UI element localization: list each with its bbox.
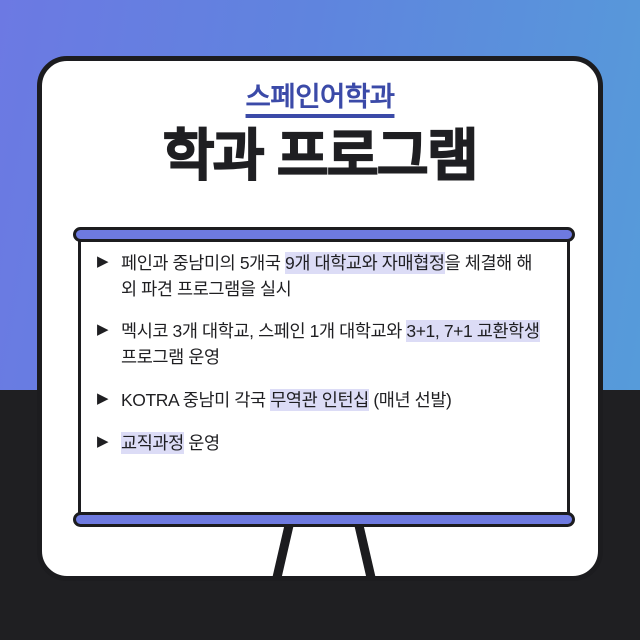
highlighted-phrase: 9개 대학교와 자매협정	[285, 252, 445, 274]
bullet-triangle-icon: ▶	[97, 254, 114, 269]
board-leg-left-icon	[270, 518, 295, 581]
program-list: ▶페인과 중남미의 5개국 9개 대학교와 자매협정을 체결해 해외 파견 프로…	[97, 251, 545, 456]
department-subtitle: 스페인어학과	[246, 83, 395, 118]
plain-phrase: 운영	[184, 433, 220, 453]
bullet-triangle-icon: ▶	[97, 391, 114, 406]
highlighted-phrase: 교직과정	[121, 432, 184, 454]
page-title: 학과 프로그램	[42, 127, 598, 186]
bullet-exchange: 멕시코 3개 대학교, 스페인 1개 대학교와 3+1, 7+1 교환학생 프로…	[121, 319, 545, 370]
heading-block: 스페인어학과 학과 프로그램	[42, 83, 598, 185]
poster-canvas: 스페인어학과 학과 프로그램 ▶페인과 중남미의 5개국 9개 대학교와 자매협…	[0, 0, 640, 640]
bullet-triangle-icon: ▶	[97, 434, 114, 449]
highlighted-phrase: 무역관 인턴십	[270, 389, 369, 411]
content-card: 스페인어학과 학과 프로그램 ▶페인과 중남미의 5개국 9개 대학교와 자매협…	[37, 56, 603, 581]
plain-phrase: 프로그램 운영	[121, 347, 220, 367]
plain-phrase: 페인과 중남미의 5개국	[121, 253, 285, 273]
board-bottom-rail	[73, 512, 575, 527]
bullet-teaching: 교직과정 운영	[121, 431, 545, 457]
list-item: ▶멕시코 3개 대학교, 스페인 1개 대학교와 3+1, 7+1 교환학생 프…	[97, 319, 545, 370]
list-item: ▶교직과정 운영	[97, 431, 545, 457]
bullet-triangle-icon: ▶	[97, 322, 114, 337]
plain-phrase: (매년 선발)	[369, 390, 452, 410]
presentation-board: ▶페인과 중남미의 5개국 9개 대학교와 자매협정을 체결해 해외 파견 프로…	[73, 227, 575, 527]
board-leg-right-icon	[353, 518, 378, 581]
list-item: ▶KOTRA 중남미 각국 무역관 인턴십 (매년 선발)	[97, 388, 545, 414]
plain-phrase: 멕시코 3개 대학교, 스페인 1개 대학교와	[121, 321, 406, 341]
bullet-partnership: 페인과 중남미의 5개국 9개 대학교와 자매협정을 체결해 해외 파견 프로그…	[121, 251, 545, 302]
board-top-rail	[73, 227, 575, 242]
plain-phrase: KOTRA 중남미 각국	[121, 390, 270, 410]
list-item: ▶페인과 중남미의 5개국 9개 대학교와 자매협정을 체결해 해외 파견 프로…	[97, 251, 545, 302]
bullet-kotra: KOTRA 중남미 각국 무역관 인턴십 (매년 선발)	[121, 388, 545, 414]
highlighted-phrase: 3+1, 7+1 교환학생	[406, 320, 539, 342]
